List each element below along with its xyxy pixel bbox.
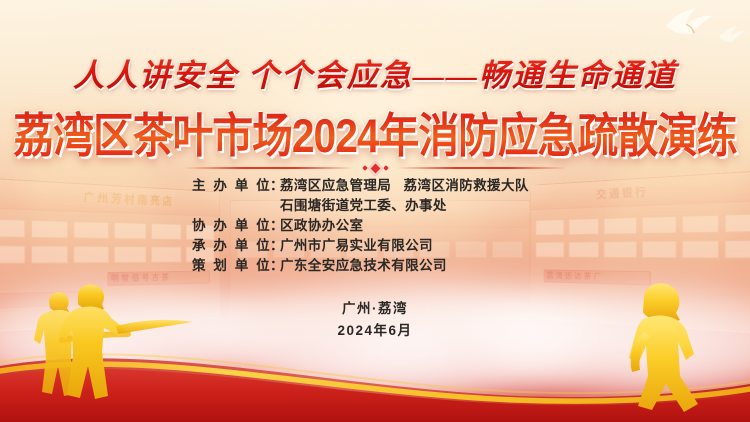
footer-date: 2024年6月 bbox=[0, 320, 750, 342]
organiser-value: 荔湾区应急管理局 荔湾区消防救援大队 bbox=[280, 176, 558, 196]
decorative-divider bbox=[0, 160, 750, 176]
organiser-row: 协办单位 ： 区政协办公室 bbox=[192, 216, 558, 236]
organiser-row: 策划单位 ： 广东全安应急技术有限公司 bbox=[192, 256, 558, 276]
footer-location: 广州·荔湾 bbox=[0, 298, 750, 320]
organiser-label: 主办单位 bbox=[192, 176, 270, 196]
organiser-colon bbox=[270, 196, 280, 216]
organiser-row: 承办单位 ： 广州市广易实业有限公司 bbox=[192, 236, 558, 256]
organiser-list: 主办单位 ： 荔湾区应急管理局 荔湾区消防救援大队 石围塘街道党工委、办事处 协… bbox=[0, 176, 750, 276]
organiser-colon: ： bbox=[270, 216, 280, 236]
organiser-colon: ： bbox=[270, 176, 280, 196]
organiser-label: 承办单位 bbox=[192, 236, 270, 256]
organiser-colon: ： bbox=[270, 256, 280, 276]
divider-line-right bbox=[397, 167, 567, 169]
organiser-label: 协办单位 bbox=[192, 216, 270, 236]
organiser-value: 广东全安应急技术有限公司 bbox=[280, 256, 558, 276]
organiser-label bbox=[192, 196, 270, 216]
organiser-row: 石围塘街道党工委、办事处 bbox=[192, 196, 558, 216]
footer-block: 广州·荔湾 2024年6月 bbox=[0, 298, 750, 342]
organiser-value: 区政协办公室 bbox=[280, 216, 558, 236]
divider-line-left bbox=[184, 167, 354, 169]
organiser-value: 广州市广易实业有限公司 bbox=[280, 236, 558, 256]
organiser-row: 主办单位 ： 荔湾区应急管理局 荔湾区消防救援大队 bbox=[192, 176, 558, 196]
slogan-text: 人人讲安全 个个会应急——畅通生命通道 bbox=[0, 50, 750, 95]
organiser-value: 石围塘街道党工委、办事处 bbox=[280, 196, 558, 216]
poster-canvas: 广州芳村南亮店 明智佰号古茶 交通银行 bbox=[0, 0, 750, 422]
diamond-ornament-icon bbox=[363, 163, 388, 174]
organiser-label: 策划单位 bbox=[192, 256, 270, 276]
organiser-colon: ： bbox=[270, 236, 280, 256]
page-title: 荔湾区茶叶市场2024年消防应急疏散演练 bbox=[0, 98, 750, 166]
